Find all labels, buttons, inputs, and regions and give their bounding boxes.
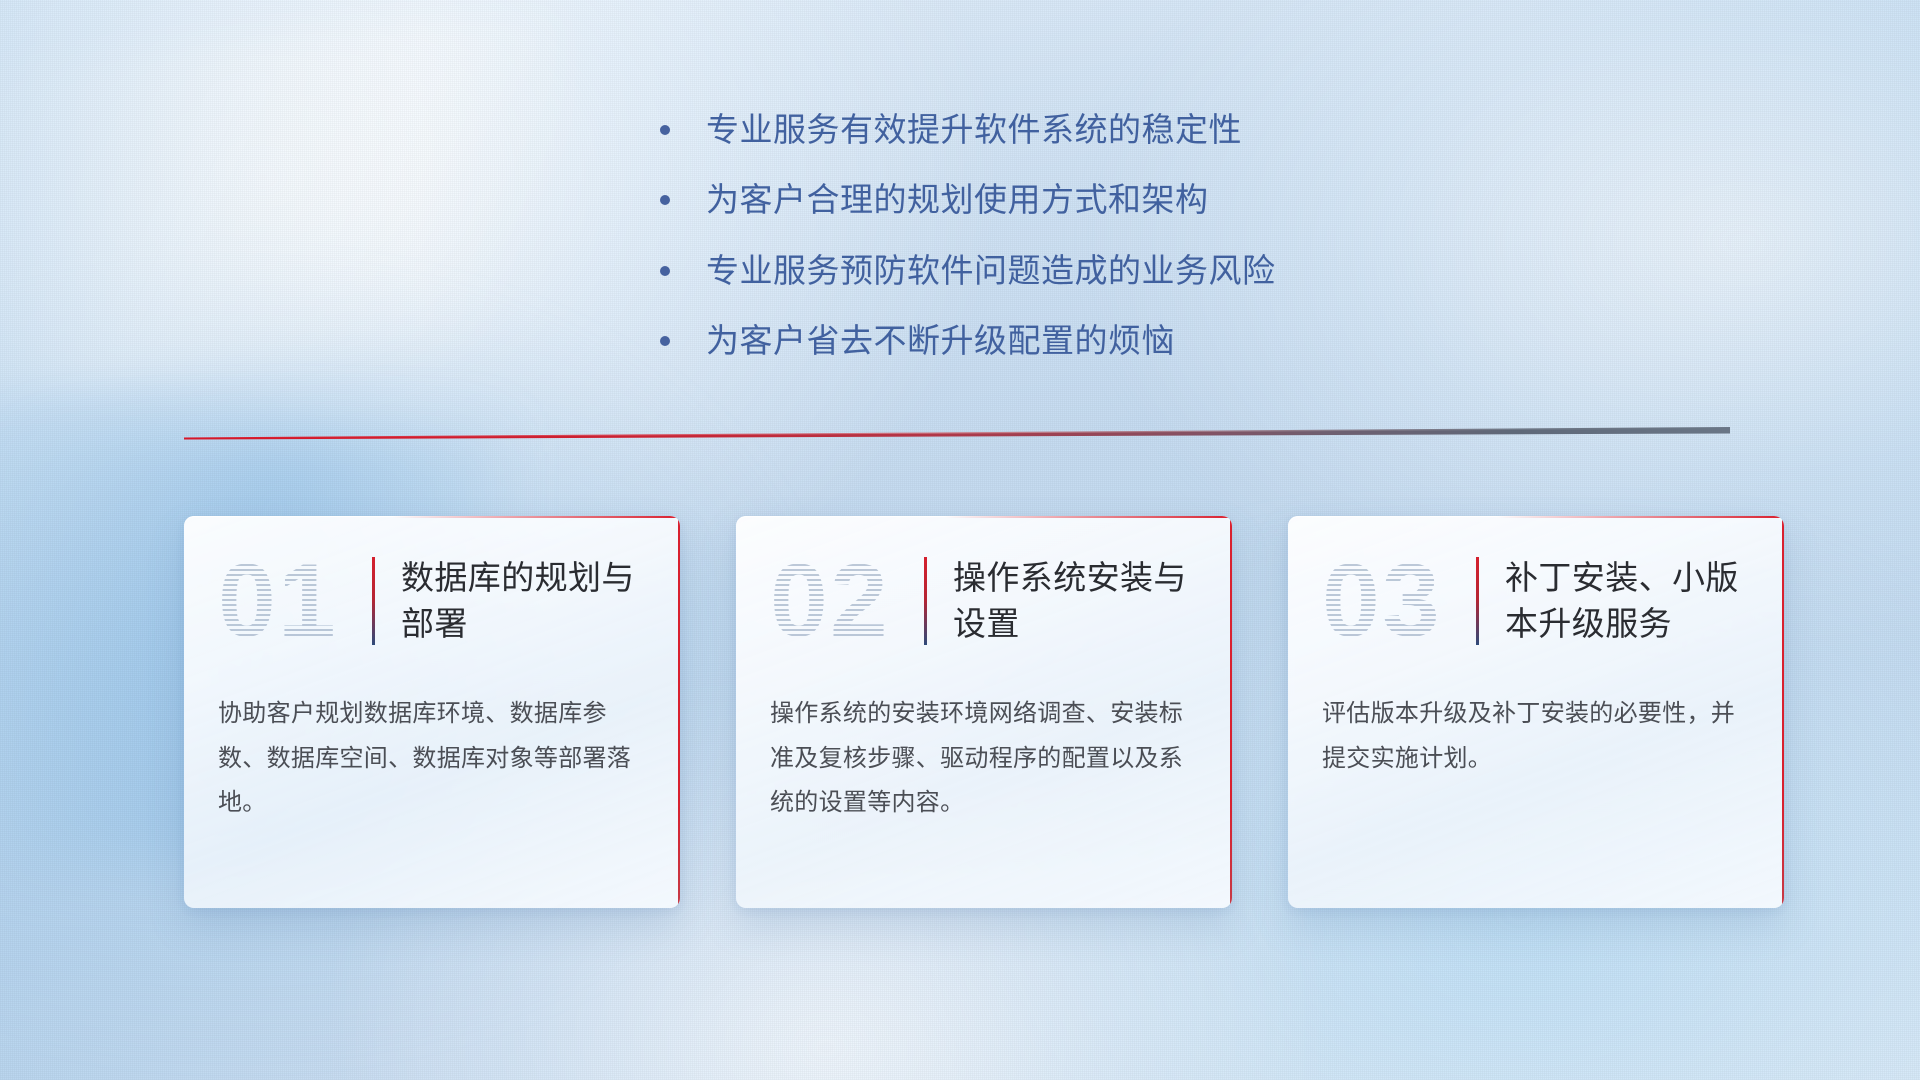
card-number-watermark: 01: [218, 549, 368, 653]
tapered-rule-icon: [184, 424, 1730, 444]
card-title: 操作系统安装与设置: [953, 555, 1206, 646]
bullet-dot-icon: [660, 125, 670, 135]
bullet-text: 专业服务预防软件问题造成的业务风险: [706, 251, 1276, 291]
card-title: 数据库的规划与部署: [401, 555, 654, 646]
card-title-divider-icon: [1476, 557, 1479, 645]
card-body-text: 协助客户规划数据库环境、数据库参数、数据库空间、数据库对象等部署落地。: [184, 686, 680, 826]
bullet-dot-icon: [660, 195, 670, 205]
card-header: 01 数据库的规划与部署: [184, 516, 680, 686]
list-item: 为客户合理的规划使用方式和架构: [660, 180, 1420, 220]
section-divider: [184, 424, 1730, 444]
bullet-dot-icon: [660, 266, 670, 276]
service-card-03[interactable]: 03 补丁安装、小版本升级服务 评估版本升级及补丁安装的必要性，并提交实施计划。: [1288, 516, 1784, 908]
card-title: 补丁安装、小版本升级服务: [1505, 555, 1758, 646]
list-item: 为客户省去不断升级配置的烦恼: [660, 321, 1420, 361]
card-title-divider-icon: [924, 557, 927, 645]
bullet-text: 为客户省去不断升级配置的烦恼: [706, 321, 1175, 361]
card-header: 02 操作系统安装与设置: [736, 516, 1232, 686]
bullet-text: 为客户合理的规划使用方式和架构: [706, 180, 1209, 220]
card-number-watermark: 03: [1322, 549, 1472, 653]
card-number-watermark: 02: [770, 549, 920, 653]
bullet-dot-icon: [660, 336, 670, 346]
list-item: 专业服务有效提升软件系统的稳定性: [660, 110, 1420, 150]
service-card-01[interactable]: 01 数据库的规划与部署 协助客户规划数据库环境、数据库参数、数据库空间、数据库…: [184, 516, 680, 908]
card-header: 03 补丁安装、小版本升级服务: [1288, 516, 1784, 686]
card-body-text: 操作系统的安装环境网络调查、安装标准及复核步骤、驱动程序的配置以及系统的设置等内…: [736, 686, 1232, 826]
benefits-bullet-list: 专业服务有效提升软件系统的稳定性 为客户合理的规划使用方式和架构 专业服务预防软…: [660, 110, 1420, 391]
card-title-divider-icon: [372, 557, 375, 645]
bullet-text: 专业服务有效提升软件系统的稳定性: [706, 110, 1242, 150]
list-item: 专业服务预防软件问题造成的业务风险: [660, 251, 1420, 291]
card-body-text: 评估版本升级及补丁安装的必要性，并提交实施计划。: [1288, 686, 1784, 781]
service-cards: 01 数据库的规划与部署 协助客户规划数据库环境、数据库参数、数据库空间、数据库…: [184, 516, 1784, 916]
service-card-02[interactable]: 02 操作系统安装与设置 操作系统的安装环境网络调查、安装标准及复核步骤、驱动程…: [736, 516, 1232, 908]
